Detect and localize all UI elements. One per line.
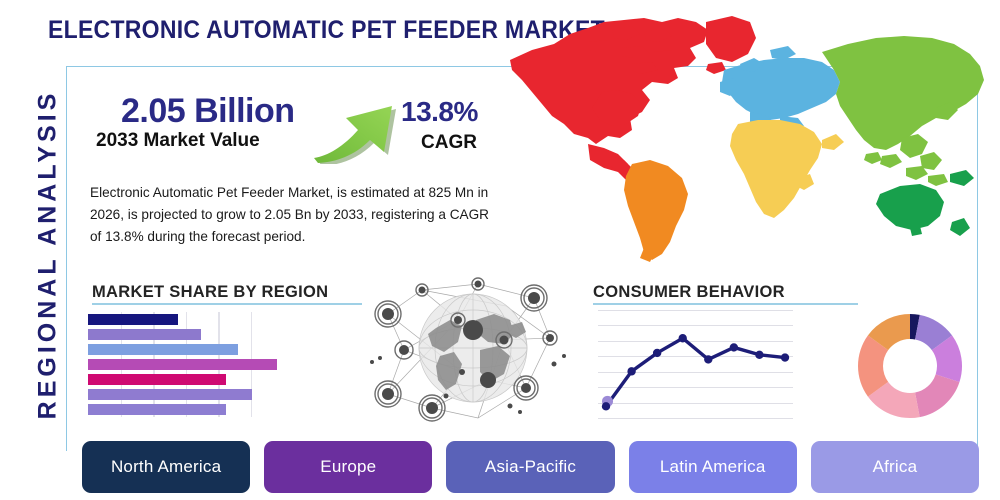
market-share-rule — [92, 303, 362, 305]
bar-row — [88, 314, 178, 325]
kpi-row: 2.05 Billion 2033 Market Value 13.8% CAG… — [86, 92, 506, 172]
line-marker — [627, 367, 635, 375]
market-value-label: 2033 Market Value — [96, 130, 260, 152]
market-value-number: 2.05 Billion — [121, 92, 295, 131]
region-button-europe[interactable]: Europe — [264, 441, 432, 493]
consumer-behavior-heading: CONSUMER BEHAVIOR — [593, 283, 785, 302]
line-marker — [679, 334, 687, 342]
bar-row — [88, 374, 226, 385]
map-region-north-america — [510, 16, 756, 186]
line-series — [598, 310, 793, 418]
line-grid-line — [598, 418, 793, 419]
line-marker — [653, 349, 661, 357]
region-button-asia-pacific[interactable]: Asia-Pacific — [446, 441, 614, 493]
consumer-behavior-rule — [593, 303, 858, 305]
bar-row — [88, 329, 201, 340]
market-share-bar-chart — [88, 312, 283, 417]
line-marker — [704, 355, 712, 363]
bar-row — [88, 389, 252, 400]
market-share-heading: MARKET SHARE BY REGION — [92, 283, 328, 302]
region-button-africa[interactable]: Africa — [811, 441, 979, 493]
map-region-oceania — [876, 170, 974, 236]
region-button-latin-america[interactable]: Latin America — [629, 441, 797, 493]
line-marker — [755, 351, 763, 359]
globe-network-icon — [358, 268, 588, 428]
region-button-bar: North AmericaEuropeAsia-PacificLatin Ame… — [82, 441, 979, 493]
map-region-asia — [822, 36, 984, 186]
line-marker — [602, 402, 610, 410]
region-button-north-america[interactable]: North America — [82, 441, 250, 493]
description-text: Electronic Automatic Pet Feeder Market, … — [90, 182, 490, 248]
world-map-icon — [492, 8, 997, 270]
bar-row — [88, 404, 226, 415]
donut-series — [852, 308, 968, 424]
side-label-regional-analysis: REGIONAL ANALYSIS — [34, 65, 63, 445]
cagr-number: 13.8% — [401, 96, 478, 128]
bar-row — [88, 359, 277, 370]
consumer-behavior-line-chart — [598, 310, 793, 418]
bar-row — [88, 344, 238, 355]
line-marker — [730, 343, 738, 351]
cagr-label: CAGR — [421, 132, 477, 154]
map-region-africa — [730, 120, 844, 218]
donut-slice — [915, 374, 959, 417]
map-region-south-america — [624, 160, 688, 262]
consumer-behavior-donut-chart — [852, 308, 968, 424]
line-marker — [781, 353, 789, 361]
